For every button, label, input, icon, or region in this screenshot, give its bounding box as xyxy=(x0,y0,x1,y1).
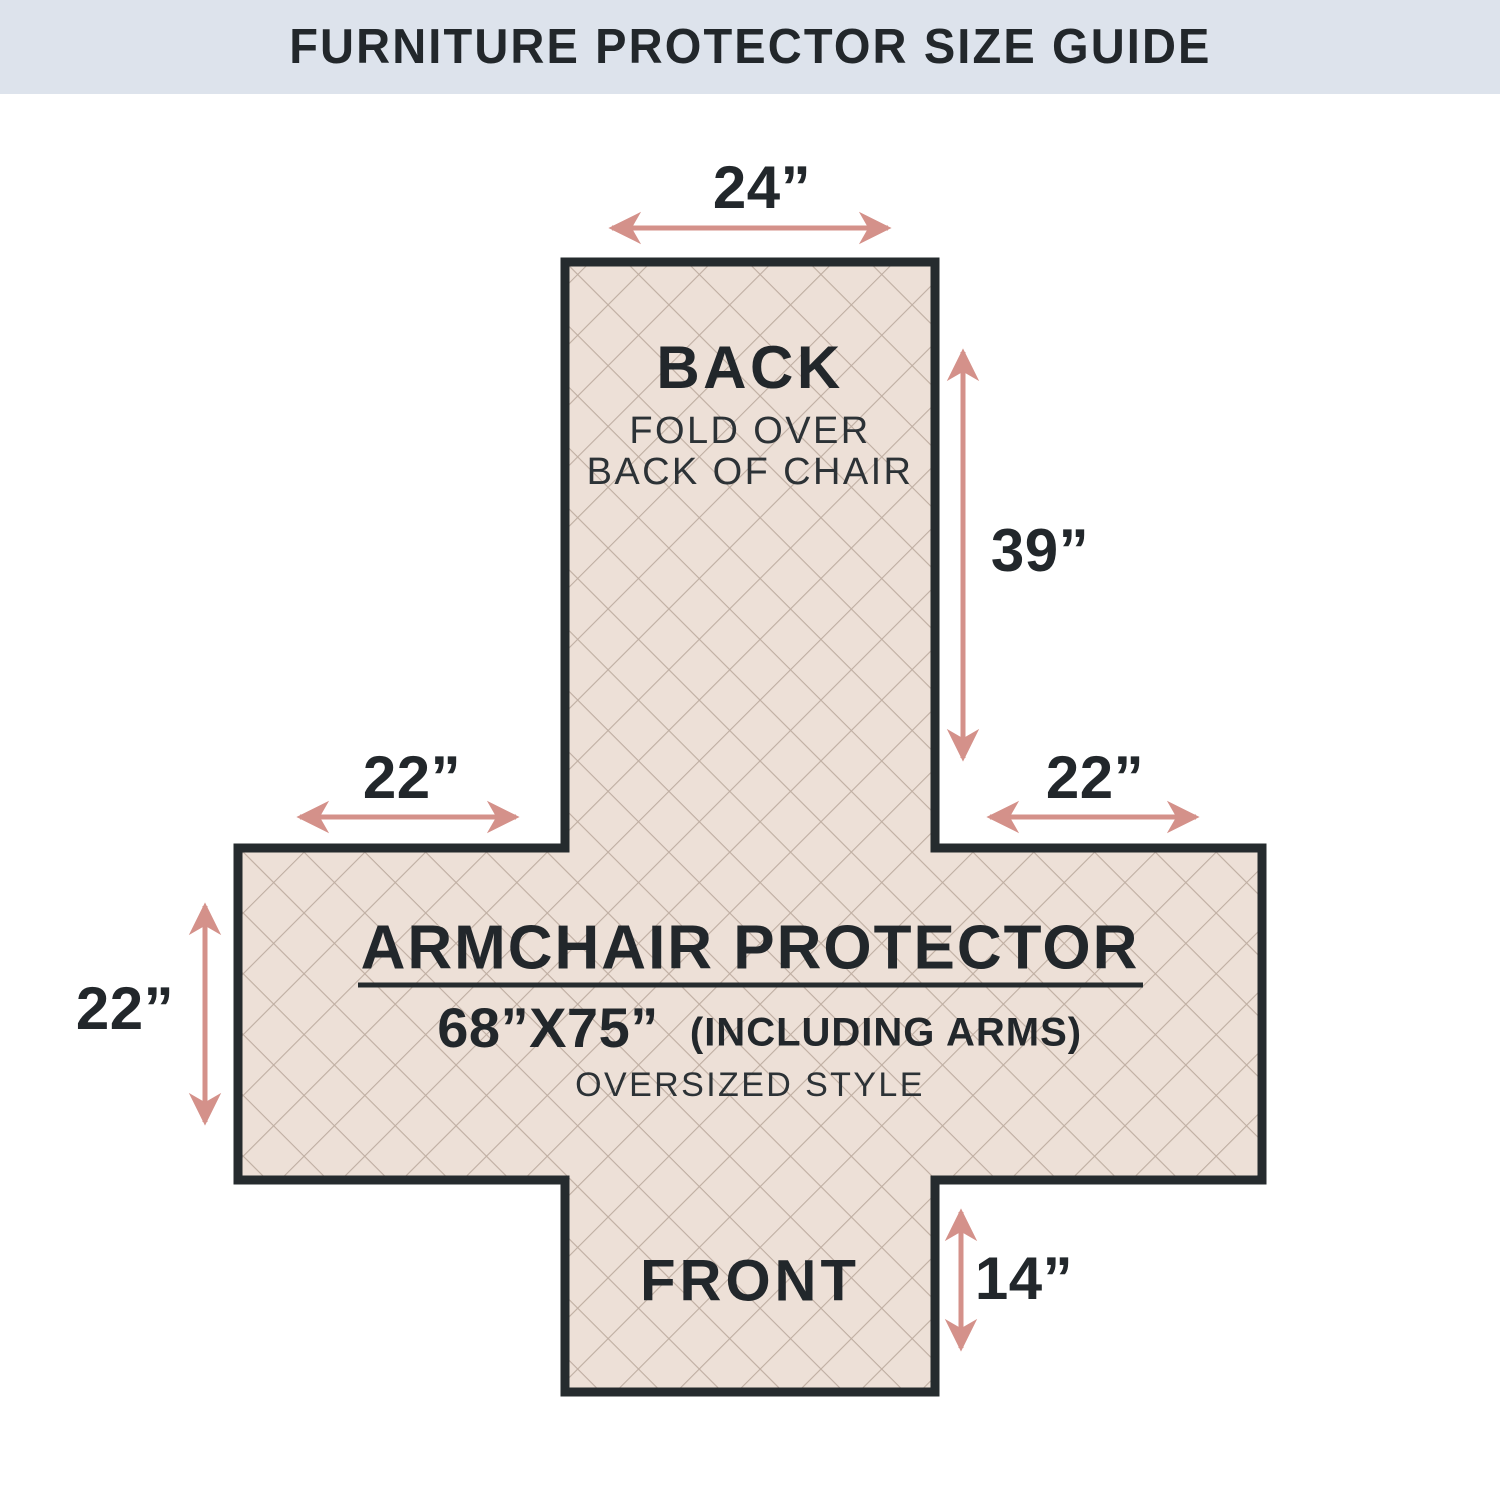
right-arm-width-label: 22” xyxy=(1046,744,1144,811)
dimension-front-depth: 14” xyxy=(961,1212,1073,1348)
center-size: 68”X75” xyxy=(437,996,658,1059)
center-style: OVERSIZED STYLE xyxy=(575,1066,925,1104)
back-height-label: 39” xyxy=(991,517,1089,584)
back-heading: BACK xyxy=(656,334,843,401)
back-sub-line-2: BACK OF CHAIR xyxy=(587,451,914,493)
center-title: ARMCHAIR PROTECTOR xyxy=(361,913,1140,982)
protector-diagram: BACK FOLD OVER BACK OF CHAIR ARMCHAIR PR… xyxy=(0,0,1500,1500)
back-width-label: 24” xyxy=(713,154,811,221)
dimension-left-arm-width: 22” xyxy=(300,744,516,817)
left-arm-width-label: 22” xyxy=(363,744,461,811)
arm-depth-label: 22” xyxy=(76,975,174,1042)
dimension-right-arm-width: 22” xyxy=(990,744,1196,817)
dimension-back-width: 24” xyxy=(612,154,888,228)
front-panel-labels: FRONT xyxy=(640,1248,860,1313)
size-guide-graphic: FURNITURE PROTECTOR SIZE GUIDE BACK FOLD… xyxy=(0,0,1500,1500)
dimension-back-height: 39” xyxy=(963,352,1089,758)
back-sub-line-1: FOLD OVER xyxy=(629,410,870,452)
front-depth-label: 14” xyxy=(975,1245,1073,1312)
dimension-arm-depth: 22” xyxy=(76,906,205,1122)
front-heading: FRONT xyxy=(640,1248,860,1313)
center-size-note: (INCLUDING ARMS) xyxy=(690,1011,1082,1055)
